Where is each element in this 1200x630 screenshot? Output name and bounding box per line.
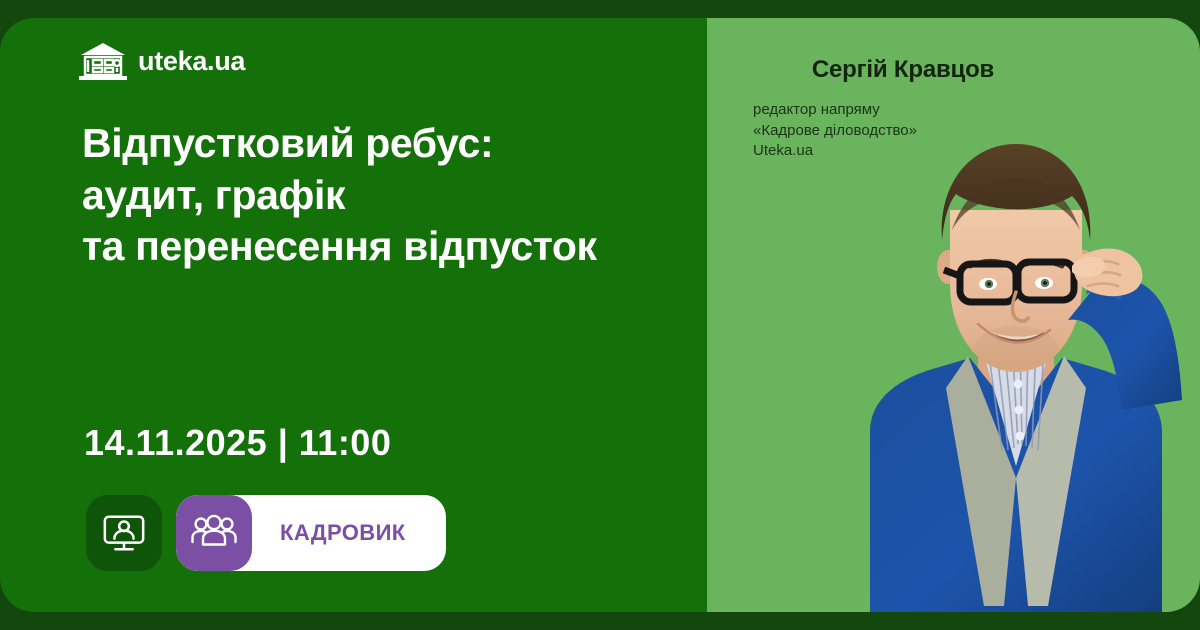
webinar-format-badge[interactable] [86, 495, 162, 571]
headline-line-2: аудит, графік [82, 170, 682, 222]
speaker-photo [826, 132, 1200, 612]
category-badge-label: КАДРОВИК [252, 520, 406, 546]
speaker-name: Сергій Кравцов [753, 56, 1053, 84]
speaker-role-line-3: Uteka.ua [753, 141, 1053, 162]
speaker-role-line-2: «Кадрове діловодство» [753, 121, 1053, 142]
webinar-banner: uteka.ua Відпустковий ребус: аудит, граф… [0, 0, 1200, 630]
category-badge-icon-wrap [176, 495, 252, 571]
headline-line-3: та перенесення відпусток [82, 221, 682, 273]
speaker-info: Сергій Кравцов редактор напряму «Кадрове… [753, 56, 1053, 162]
monitor-person-icon [101, 510, 147, 556]
left-content-panel: uteka.ua Відпустковий ребус: аудит, граф… [0, 18, 707, 612]
event-datetime: 14.11.2025 | 11:00 [84, 422, 391, 464]
people-group-icon [190, 509, 238, 557]
brand-logo-text: uteka.ua [138, 48, 245, 75]
uteka-building-icon [78, 40, 128, 82]
speaker-role-line-1: редактор напряму [753, 100, 1053, 121]
speaker-panel: Сергій Кравцов редактор напряму «Кадрове… [707, 18, 1200, 612]
page-title: Відпустковий ребус: аудит, графік та пер… [82, 118, 682, 273]
banner-card: uteka.ua Відпустковий ребус: аудит, граф… [0, 18, 1200, 612]
badge-row: КАДРОВИК [86, 495, 446, 571]
speaker-role: редактор напряму «Кадрове діловодство» U… [753, 100, 1053, 162]
brand-logo[interactable]: uteka.ua [78, 40, 245, 82]
category-badge[interactable]: КАДРОВИК [176, 495, 446, 571]
headline-line-1: Відпустковий ребус: [82, 118, 682, 170]
